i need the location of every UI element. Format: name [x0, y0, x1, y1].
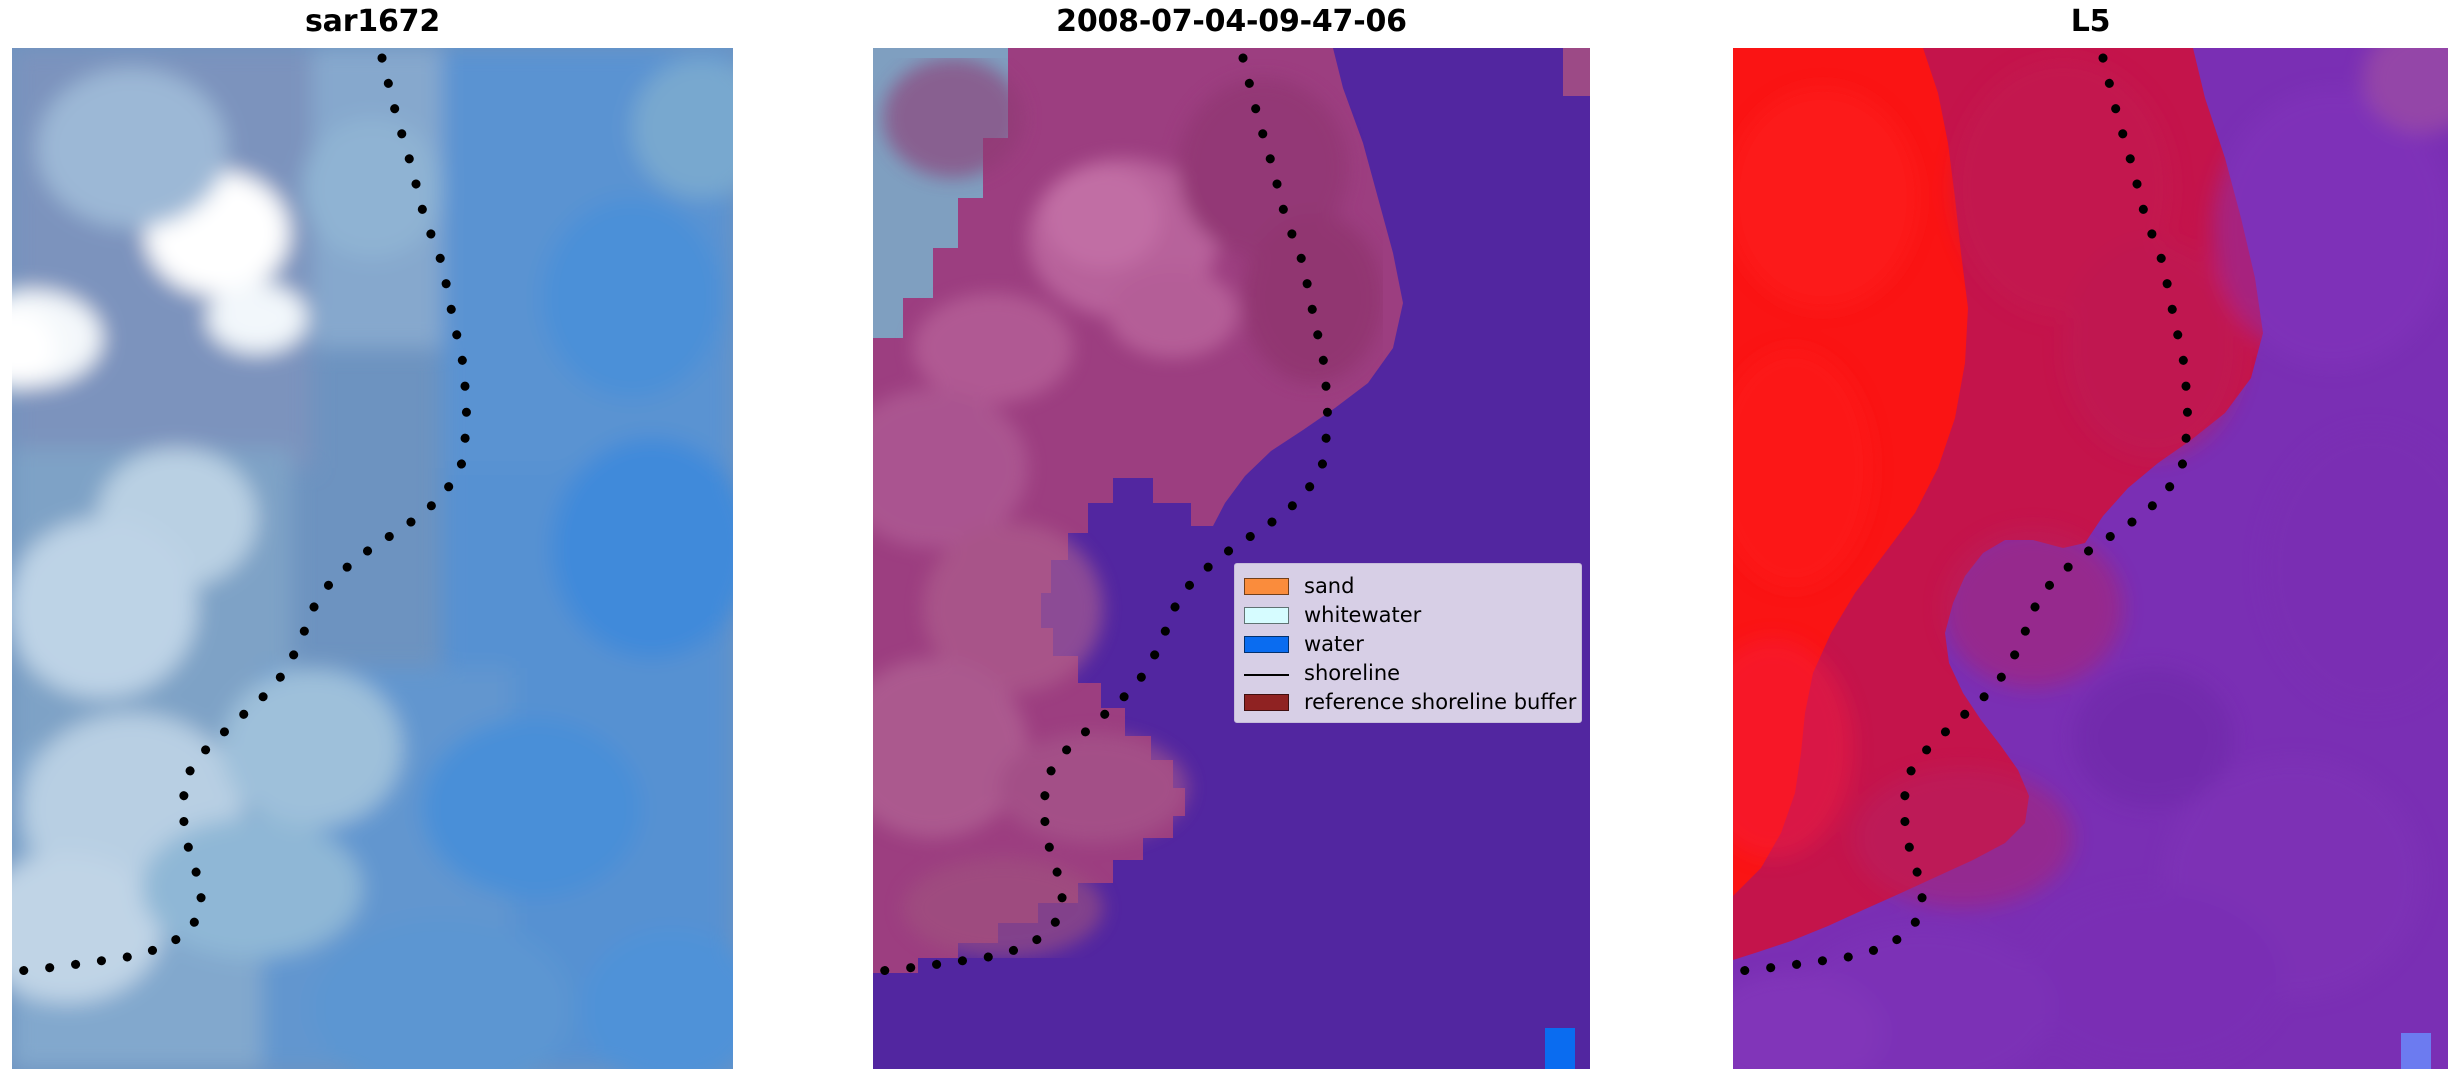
- axes-sar[interactable]: [12, 48, 733, 1069]
- panel-title-classified: 2008-07-04-09-47-06: [873, 2, 1590, 42]
- shoreline-line-icon: [1244, 665, 1289, 682]
- legend-label-whitewater: whitewater: [1304, 605, 1421, 626]
- sand-color-swatch-icon: [1244, 578, 1289, 595]
- axes-l5[interactable]: [1733, 48, 2448, 1069]
- panel-l5: L5: [1733, 0, 2448, 1069]
- whitewater-color-swatch-icon: [1244, 607, 1289, 624]
- panel-sar: sar1672: [12, 0, 733, 1069]
- legend-label-sand: sand: [1304, 576, 1354, 597]
- panel-title-l5: L5: [1733, 2, 2448, 42]
- legend-item-shoreline: shoreline: [1244, 659, 1571, 688]
- legend-item-reference-shoreline-buffer: reference shoreline buffer: [1244, 688, 1571, 717]
- legend-item-whitewater: whitewater: [1244, 601, 1571, 630]
- legend-item-sand: sand: [1244, 572, 1571, 601]
- legend-item-water: water: [1244, 630, 1571, 659]
- reference-shoreline-buffer-color-swatch-icon: [1244, 694, 1289, 711]
- water-color-swatch-icon: [1244, 636, 1289, 653]
- shoreline-dots-sar: [12, 48, 733, 1069]
- figure-root: sar1672: [0, 0, 2460, 1069]
- panel-title-sar: sar1672: [12, 2, 733, 42]
- legend-label-water: water: [1304, 634, 1364, 655]
- axes-classified[interactable]: [873, 48, 1590, 1069]
- legend-label-shoreline: shoreline: [1304, 663, 1400, 684]
- shoreline-dots-l5: [1733, 48, 2448, 1069]
- legend: sand whitewater water shoreline referenc…: [1234, 563, 1582, 723]
- panel-classified: 2008-07-04-09-47-06: [873, 0, 1590, 1069]
- legend-label-reference-shoreline-buffer: reference shoreline buffer: [1304, 692, 1576, 713]
- shoreline-dots-classified: [873, 48, 1590, 1069]
